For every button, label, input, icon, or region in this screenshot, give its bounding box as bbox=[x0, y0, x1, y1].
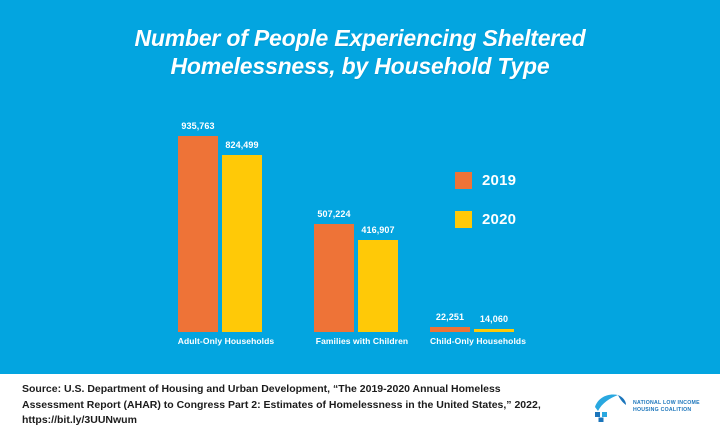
bar-group-families-with-children: 507,224 416,907 Families with Children bbox=[314, 100, 410, 332]
legend-item-2019[interactable]: 2019 bbox=[455, 172, 516, 189]
bar-2020-child-only[interactable]: 14,060 bbox=[474, 329, 514, 332]
bar-value-label: 824,499 bbox=[225, 140, 258, 150]
logo-line-2: HOUSING COALITION bbox=[633, 407, 700, 414]
legend-swatch-icon-2019 bbox=[455, 172, 472, 189]
chart-title: Number of People Experiencing Sheltered … bbox=[0, 24, 720, 80]
bar-pair: 507,224 416,907 bbox=[314, 100, 410, 332]
bar-pair: 935,763 824,499 bbox=[178, 100, 274, 332]
logo-wordmark: NATIONAL LOW INCOME HOUSING COALITION bbox=[633, 400, 700, 414]
legend-item-2020[interactable]: 2020 bbox=[455, 211, 516, 228]
source-citation: Source: U.S. Department of Housing and U… bbox=[22, 382, 577, 429]
bar-value-label: 14,060 bbox=[480, 314, 508, 324]
bar-value-label: 416,907 bbox=[361, 225, 394, 235]
nlihc-logo[interactable]: NATIONAL LOW INCOME HOUSING COALITION bbox=[592, 388, 704, 426]
bar-value-label: 935,763 bbox=[181, 121, 214, 131]
logo-line-1: NATIONAL LOW INCOME bbox=[633, 400, 700, 407]
bar-2019-families-with-children[interactable]: 507,224 bbox=[314, 224, 354, 332]
legend-label-2019: 2019 bbox=[482, 172, 516, 189]
category-label-child-only: Child-Only Households bbox=[408, 336, 548, 346]
bar-2020-adult-only[interactable]: 824,499 bbox=[222, 155, 262, 332]
legend-swatch-icon-2020 bbox=[455, 211, 472, 228]
source-line-1: Source: U.S. Department of Housing and U… bbox=[22, 382, 577, 398]
bar-2019-child-only[interactable]: 22,251 bbox=[430, 327, 470, 332]
source-line-2: Assessment Report (AHAR) to Congress Par… bbox=[22, 398, 577, 414]
bar-2019-adult-only[interactable]: 935,763 bbox=[178, 136, 218, 332]
chart-legend: 2019 2020 bbox=[455, 172, 516, 250]
bar-value-label: 22,251 bbox=[436, 312, 464, 322]
source-url[interactable]: https://bit.ly/3UUNwum bbox=[22, 413, 577, 429]
chart-title-line-2: Homelessness, by Household Type bbox=[0, 52, 720, 80]
infographic-poster: Number of People Experiencing Sheltered … bbox=[0, 0, 720, 442]
bar-value-label: 507,224 bbox=[317, 209, 350, 219]
category-label-adult-only: Adult-Only Households bbox=[156, 336, 296, 346]
chart-title-line-1: Number of People Experiencing Sheltered bbox=[0, 24, 720, 52]
legend-label-2020: 2020 bbox=[482, 211, 516, 228]
bar-2020-families-with-children[interactable]: 416,907 bbox=[358, 240, 398, 332]
house-roof-icon bbox=[592, 392, 628, 422]
bar-group-adult-only: 935,763 824,499 Adult-Only Households bbox=[178, 100, 274, 332]
